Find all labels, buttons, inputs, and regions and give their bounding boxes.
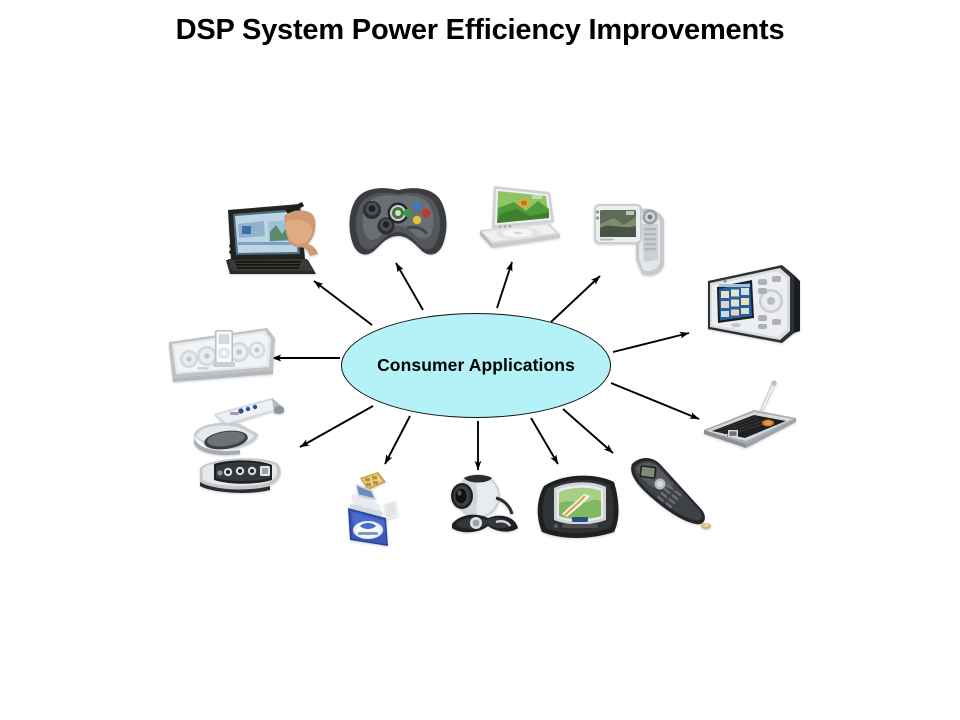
hub-ellipse-consumer-applications[interactable]: Consumer Applications	[341, 313, 611, 418]
arrow-to-touch-remote	[613, 333, 689, 352]
device-cordless-phone[interactable]	[618, 450, 718, 534]
device-camcorder[interactable]	[584, 190, 678, 282]
device-gps-navigator[interactable]	[532, 462, 626, 544]
hub-and-spoke-diagram: Consumer Applications	[0, 0, 960, 720]
arrow-to-gps-navigator	[531, 418, 558, 464]
arrow-to-portable-dvd	[497, 262, 512, 308]
arrow-to-handheld-pc	[314, 281, 372, 325]
arrow-to-wireless-card	[611, 383, 699, 419]
device-set-top-media-adapter[interactable]	[186, 392, 302, 498]
arrow-to-game-controller	[396, 263, 423, 310]
slide-canvas: DSP System Power Efficiency Improvements	[0, 0, 960, 720]
device-portable-dvd-player[interactable]	[470, 178, 566, 258]
device-touchscreen-remote[interactable]	[696, 255, 806, 351]
device-speaker-dock[interactable]	[163, 312, 279, 388]
arrow-to-camcorder	[551, 276, 600, 322]
device-webcam[interactable]	[432, 468, 524, 542]
arrow-to-set-top-box	[300, 406, 373, 447]
svg-text:IBS: IBS	[419, 237, 431, 244]
device-usb-flash-drive[interactable]	[330, 468, 408, 552]
arrow-to-cordless-phone	[563, 409, 613, 453]
device-handheld-pc[interactable]	[212, 192, 324, 284]
hub-label: Consumer Applications	[377, 355, 575, 376]
device-wireless-pc-card[interactable]	[698, 378, 802, 460]
arrow-to-usb-drive	[385, 416, 410, 464]
device-game-controller[interactable]: IBS	[345, 180, 451, 264]
